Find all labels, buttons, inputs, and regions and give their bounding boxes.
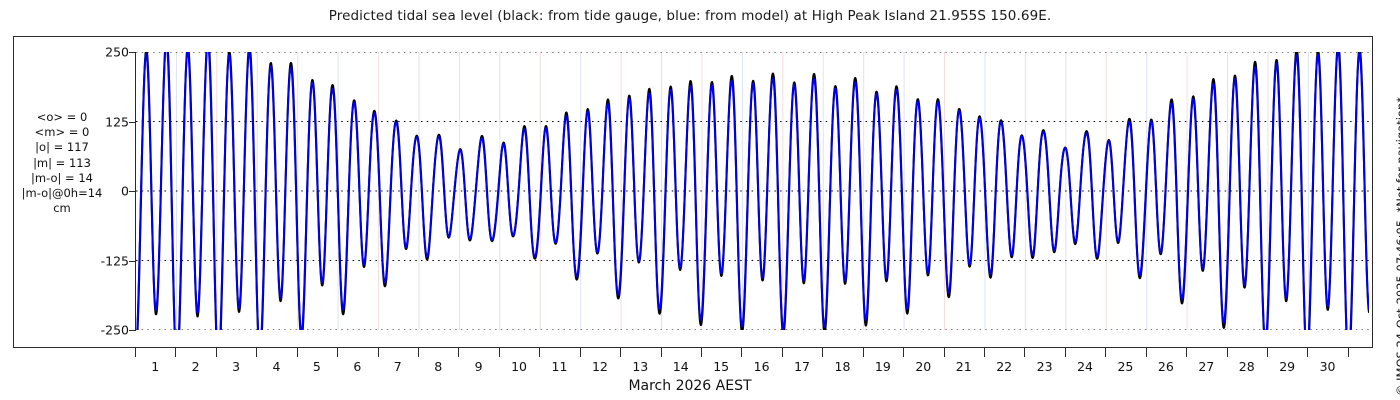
y-tick-mark (129, 330, 136, 331)
x-tick-mark (822, 348, 823, 357)
x-tick-label: 12 (592, 359, 608, 374)
x-tick-mark (863, 348, 864, 357)
x-tick-mark (458, 348, 459, 357)
y-tick-label: 0 (121, 184, 129, 199)
page-title: Predicted tidal sea level (black: from t… (0, 8, 1380, 24)
y-tick-mark (129, 52, 136, 53)
x-tick-label: 17 (794, 359, 810, 374)
y-tick-label: -125 (101, 253, 129, 268)
y-tick-mark (129, 191, 136, 192)
x-tick-mark (903, 348, 904, 357)
x-tick-mark (378, 348, 379, 357)
x-tick-label: 19 (875, 359, 891, 374)
x-tick-mark (337, 348, 338, 357)
x-tick-label: 15 (713, 359, 729, 374)
stat-abs-observed: |o| = 117 (2, 140, 122, 155)
plot-area (135, 52, 1368, 330)
x-tick-mark (1186, 348, 1187, 357)
x-tick-mark (418, 348, 419, 357)
x-tick-mark (175, 348, 176, 357)
copyright-notice: © IMOS 24-Oct-2025 07:46:05. *Not for na… (1379, 0, 1399, 400)
x-tick-label: 24 (1077, 359, 1093, 374)
x-tick-label: 30 (1320, 359, 1336, 374)
stat-mean-observed: <o> = 0 (2, 110, 122, 125)
x-tick-mark (620, 348, 621, 357)
x-tick-mark (1065, 348, 1066, 357)
stat-abs-difference-0h: |m-o|@0h=14 (2, 186, 122, 201)
y-tick-mark (129, 122, 136, 123)
x-tick-mark (1307, 348, 1308, 357)
x-tick-label: 18 (835, 359, 851, 374)
x-tick-label: 26 (1158, 359, 1174, 374)
x-tick-label: 4 (273, 359, 281, 374)
x-tick-label: 29 (1279, 359, 1295, 374)
x-tick-label: 14 (673, 359, 689, 374)
x-tick-label: 9 (475, 359, 483, 374)
x-tick-mark (216, 348, 217, 357)
copyright-text: © IMOS 24-Oct-2025 07:46:05. *Not for na… (1394, 97, 1400, 396)
x-tick-mark (1348, 348, 1349, 357)
x-tick-label: 16 (754, 359, 770, 374)
y-tick-label: -250 (101, 323, 129, 338)
x-axis-title: March 2026 AEST (0, 378, 1380, 394)
x-tick-label: 21 (956, 359, 972, 374)
x-tick-mark (1227, 348, 1228, 357)
x-tick-mark (1267, 348, 1268, 357)
statistics-block: <o> = 0 <m> = 0 |o| = 117 |m| = 113 |m-o… (2, 110, 122, 216)
x-tick-mark (580, 348, 581, 357)
x-tick-label: 23 (1037, 359, 1053, 374)
x-tick-label: 25 (1117, 359, 1133, 374)
x-tick-label: 8 (434, 359, 442, 374)
x-tick-mark (135, 348, 136, 357)
x-tick-label: 2 (192, 359, 200, 374)
x-tick-label: 20 (915, 359, 931, 374)
x-tick-label: 6 (353, 359, 361, 374)
x-tick-label: 5 (313, 359, 321, 374)
x-tick-label: 10 (511, 359, 527, 374)
x-tick-label: 1 (151, 359, 159, 374)
tide-series-plot (136, 52, 1369, 330)
stat-abs-difference: |m-o| = 14 (2, 171, 122, 186)
x-tick-label: 13 (632, 359, 648, 374)
y-tick-label: 125 (105, 114, 129, 129)
x-tick-label: 27 (1198, 359, 1214, 374)
stat-units: cm (2, 201, 122, 216)
x-tick-mark (701, 348, 702, 357)
x-tick-label: 7 (394, 359, 402, 374)
x-tick-mark (1024, 348, 1025, 357)
x-tick-mark (944, 348, 945, 357)
x-tick-mark (1105, 348, 1106, 357)
y-tick-mark (129, 261, 136, 262)
x-tick-mark (661, 348, 662, 357)
x-tick-mark (539, 348, 540, 357)
x-tick-label: 3 (232, 359, 240, 374)
x-tick-mark (499, 348, 500, 357)
x-tick-mark (782, 348, 783, 357)
x-tick-mark (256, 348, 257, 357)
stat-abs-model: |m| = 113 (2, 156, 122, 171)
x-tick-label: 28 (1239, 359, 1255, 374)
x-tick-mark (297, 348, 298, 357)
x-tick-mark (984, 348, 985, 357)
tidal-chart-page: Predicted tidal sea level (black: from t… (0, 0, 1400, 400)
x-tick-label: 22 (996, 359, 1012, 374)
x-tick-mark (1146, 348, 1147, 357)
x-tick-label: 11 (552, 359, 568, 374)
stat-mean-model: <m> = 0 (2, 125, 122, 140)
x-tick-mark (741, 348, 742, 357)
y-tick-label: 250 (105, 45, 129, 60)
